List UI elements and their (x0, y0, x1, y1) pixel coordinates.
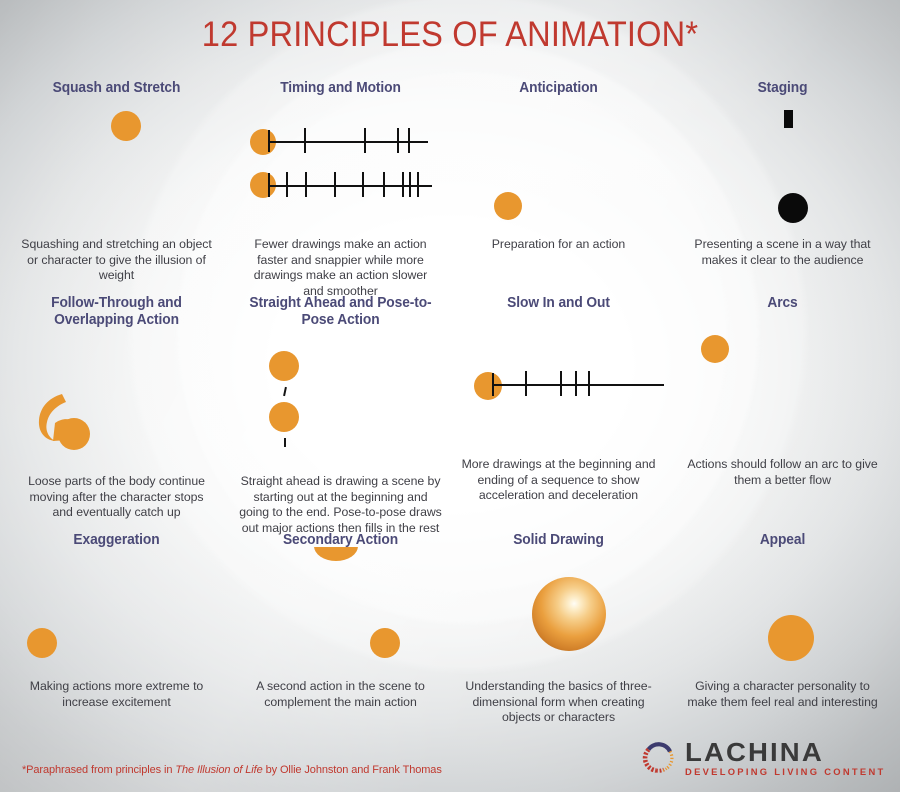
timing-tick (305, 172, 307, 197)
timing-tick (286, 172, 288, 197)
infographic-poster: 12 PRINCIPLES OF ANIMATION* Squash and S… (0, 0, 900, 792)
principle-art-squash-and-stretch (12, 97, 221, 237)
orange-ball-icon (474, 372, 502, 400)
principle-cell-timing-and-motion: Timing and Motion (228, 80, 453, 299)
orange-ball-icon (494, 192, 522, 220)
principle-art-timing-and-motion (236, 97, 445, 237)
footnote-prefix: *Paraphrased from principles in (22, 764, 175, 776)
footnote: *Paraphrased from principles in The Illu… (22, 764, 442, 776)
principle-title: Anticipation (459, 80, 658, 97)
principle-description: Giving a character personality to make t… (678, 679, 887, 710)
timing-axis (268, 185, 432, 187)
orange-ball-icon (768, 615, 814, 661)
principle-cell-secondary-action: Secondary Action A second action in the … (228, 532, 453, 710)
principle-description: More drawings at the beginning and endin… (454, 457, 663, 504)
timing-tick (409, 172, 411, 197)
logo-name: LACHINA (685, 739, 893, 765)
principle-description: Squashing and stretching an object or ch… (12, 237, 221, 284)
principle-title: Squash and Stretch (17, 80, 216, 97)
principle-cell-straight-ahead: Straight Ahead and Pose-to-Pose Action S… (228, 295, 453, 536)
principle-cell-anticipation: Anticipation Preparation for an action (446, 80, 671, 253)
principle-cell-staging: Staging Presenting a scene in a way that… (670, 80, 895, 268)
timing-tick (492, 373, 494, 396)
principle-title: Timing and Motion (241, 80, 440, 97)
principle-cell-squash-and-stretch: Squash and Stretch Squashing and stretch… (4, 80, 229, 284)
principle-cell-appeal: Appeal Giving a character personality to… (670, 532, 895, 710)
orange-ball-icon (269, 351, 299, 381)
principle-art-anticipation (454, 97, 663, 237)
timing-tick (304, 128, 306, 153)
principle-description: Presenting a scene in a way that makes i… (678, 237, 887, 268)
footnote-book-title: The Illusion of Life (175, 764, 262, 776)
timing-tick (402, 172, 404, 197)
principle-description: Loose parts of the body continue moving … (12, 474, 221, 521)
timing-tick (417, 172, 419, 197)
principle-art-secondary-action (236, 549, 445, 679)
principle-description: Understanding the basics of three-dimens… (454, 679, 663, 726)
principle-cell-slow-in-and-out: Slow In and Out More drawings at the beg… (446, 295, 671, 504)
logo-tagline: DEVELOPING LIVING CONTENT (685, 768, 886, 777)
principle-art-follow-through (12, 329, 221, 474)
motion-dash-icon (284, 438, 286, 447)
timing-axis (492, 384, 664, 386)
principle-title: Exaggeration (17, 532, 216, 549)
page-title: 12 PRINCIPLES OF ANIMATION* (32, 15, 869, 55)
principle-description: Straight ahead is drawing a scene by sta… (236, 474, 445, 536)
squashed-ball-icon (314, 547, 358, 561)
principle-title: Follow-Through and Overlapping Action (17, 295, 216, 329)
timing-tick (560, 371, 562, 396)
timing-tick (268, 173, 270, 197)
timing-axis (268, 141, 428, 143)
timing-tick (588, 371, 590, 396)
principle-art-straight-ahead (236, 329, 445, 474)
principle-art-exaggeration (12, 549, 221, 679)
timing-tick (364, 128, 366, 153)
principle-title: Arcs (683, 295, 882, 312)
motion-dash-icon (283, 387, 287, 396)
principle-cell-exaggeration: Exaggeration Making actions more extreme… (4, 532, 229, 710)
timing-tick (362, 172, 364, 197)
principle-title: Straight Ahead and Pose-to-Pose Action (241, 295, 440, 329)
principle-title: Solid Drawing (459, 532, 658, 549)
timing-tick (575, 371, 577, 396)
orange-ball-icon (370, 628, 400, 658)
orange-ball-icon (27, 628, 57, 658)
timing-tick (334, 172, 336, 197)
principle-description: Actions should follow an arc to give the… (678, 457, 887, 488)
principle-title: Slow In and Out (459, 295, 658, 312)
principle-description: A second action in the scene to compleme… (236, 679, 445, 710)
principle-art-solid-drawing (454, 549, 663, 679)
orange-ball-icon (269, 402, 299, 432)
principle-description: Fewer drawings make an action faster and… (236, 237, 445, 299)
principle-cell-arcs: Arcs Actions should follow an arc to giv… (670, 295, 895, 488)
shaded-sphere-icon (532, 577, 606, 651)
principle-title: Staging (683, 80, 882, 97)
principle-description: Making actions more extreme to increase … (12, 679, 221, 710)
principle-cell-follow-through: Follow-Through and Overlapping Action Lo… (4, 295, 229, 521)
footnote-suffix: by Ollie Johnston and Frank Thomas (263, 764, 442, 776)
principle-art-staging (678, 97, 887, 237)
orange-ball-icon (111, 111, 141, 141)
principle-title: Appeal (683, 532, 882, 549)
black-rectangle-icon (784, 110, 793, 128)
timing-tick (525, 371, 527, 396)
timing-tick (397, 128, 399, 153)
orange-ball-icon (701, 335, 729, 363)
logo-wordmark: LACHINA DEVELOPING LIVING CONTENT (685, 739, 882, 777)
lachina-ring-icon (640, 739, 678, 777)
principle-art-slow-in-and-out (454, 312, 663, 457)
principle-cell-solid-drawing: Solid Drawing Understanding the basics o… (446, 532, 671, 726)
principles-grid: Squash and Stretch Squashing and stretch… (0, 80, 900, 725)
black-ball-icon (778, 193, 808, 223)
principle-art-appeal (678, 549, 887, 679)
timing-tick (383, 172, 385, 197)
timing-tick (268, 130, 270, 152)
principle-art-arcs (678, 312, 887, 457)
lachina-logo[interactable]: LACHINA DEVELOPING LIVING CONTENT (640, 736, 882, 780)
timing-tick (408, 128, 410, 153)
principle-description: Preparation for an action (454, 237, 663, 253)
orange-tail-icon (22, 384, 102, 464)
